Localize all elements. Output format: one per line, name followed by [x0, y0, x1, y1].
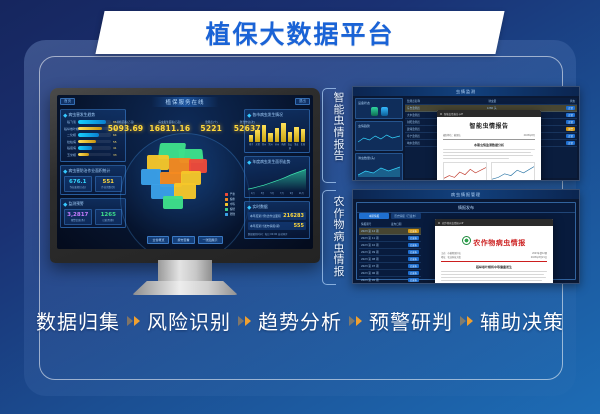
map-region: [147, 155, 169, 170]
panel-realtime-data-header: 实时数据: [248, 204, 306, 210]
flow-step-5: 辅助决策: [480, 306, 564, 335]
map-button-bycity[interactable]: 按市查看: [172, 236, 194, 244]
table-row[interactable]: 2023 第 07 期 已发布: [359, 263, 421, 270]
dashboard-center-column: 种植面积(万亩) 5093.69 病虫发生面积(万亩) 16811.16 监测点…: [129, 109, 241, 245]
bar-track: [78, 140, 111, 143]
kpi-value: 16811.16: [149, 124, 190, 133]
double-chevron-icon: [460, 316, 473, 326]
table-column-header: 诱虫量: [488, 99, 567, 103]
bar-value: 64: [113, 133, 122, 137]
stat-label: 作业面积(万亩): [65, 185, 91, 189]
tab-history-bulletin[interactable]: 历史情报（已发布）: [391, 213, 421, 219]
stat-card: 551 作业次数(次): [95, 176, 123, 192]
stat-card: 676.1 作业面积(万亩): [64, 176, 92, 192]
stat-row: 3,2817 预警信息(条) 1265 已处置(条): [64, 209, 122, 225]
list-item-value: 555: [294, 223, 304, 229]
table-row[interactable]: 2023 第 06 期 已发布: [359, 270, 421, 277]
double-chevron-icon: [349, 316, 362, 326]
status-badge: 正常: [566, 120, 575, 124]
city-bar-axis: 南京 无锡 徐州 常州 苏州 南通 连云港 淮安 盐城: [248, 142, 306, 150]
document-rule: [443, 139, 535, 140]
panel-pest-trend: 病虫害发生趋势 稻飞虱 86 稻纵卷叶螟 72 二化螟 64: [60, 109, 126, 162]
table-cell-name: 2023 第 07 期: [361, 264, 406, 268]
process-flow: 数据归集 风险识别 趋势分析 预警研判 辅助决策: [24, 306, 576, 335]
kpi-value: 52637: [232, 124, 262, 133]
stat-card: 1265 已处置(条): [95, 209, 123, 225]
document-meta-right: 2023年8月: [524, 133, 535, 137]
bar-track: [78, 120, 111, 123]
panel-bottom-title: 病虫情报管理: [451, 192, 481, 198]
table-row[interactable]: 2023 第 08 期 已发布: [359, 256, 421, 263]
list-item-label: 本年度累计防治作业面积(亩): [250, 214, 281, 218]
panel-annual-trend: 年度病虫发生面积走势: [244, 156, 310, 198]
modal-title: 情报发布: [357, 203, 575, 213]
list-item-label: 本年度累计发布情报(期): [250, 224, 280, 228]
monitor-stand-neck: [158, 260, 212, 284]
status-badge: 已发布: [408, 243, 419, 247]
menu-icon[interactable]: [440, 113, 442, 115]
panel-top-title: 虫情监测: [456, 89, 476, 95]
kpi-strip: 种植面积(万亩) 5093.69 病虫发生面积(万亩) 16811.16 监测点…: [108, 121, 263, 133]
document-title: 农作物病虫情报: [473, 238, 526, 248]
table-header-row: 情报期号 发布日期: [359, 221, 421, 228]
list-item-value: 216283: [283, 213, 304, 219]
table-cell-name: 2023 第 10 期: [361, 243, 406, 247]
stat-label: 预警信息(条): [65, 218, 91, 222]
kpi-card: 监测点(个) 5221: [196, 121, 226, 133]
monitor-stand-base: [132, 281, 238, 295]
table-row[interactable]: 2023 第 10 期 已发布: [359, 242, 421, 249]
flow-step-3: 趋势分析: [258, 306, 342, 335]
table-cell-name: 2023 第 08 期: [361, 257, 406, 261]
province-map[interactable]: 严重 偏重 中等 偏轻 轻微: [129, 139, 241, 233]
double-chevron-icon: [238, 316, 251, 326]
bar-track: [78, 153, 111, 156]
page-title: 植保大数据平台: [100, 11, 500, 54]
bar-value: 55: [113, 140, 122, 144]
vlabel-char: 情: [327, 127, 351, 139]
document-red-rule: [441, 261, 547, 262]
mini-card-header: 诱虫数量(头): [358, 156, 400, 160]
mini-card-insect-count: 诱虫数量(头): [355, 153, 403, 181]
flow-step-4: 预警研判: [369, 306, 453, 335]
panel-city-occurrence-header: 各市病虫发生情况: [248, 112, 306, 118]
vlabel-char: 病: [327, 231, 351, 243]
bar-track: [78, 133, 111, 136]
table-cell-name: 2023 第 09 期: [361, 250, 406, 254]
annual-axis: 1月 3月 5月 7月 9月 11月: [248, 191, 306, 195]
document-page: 农作物病虫情报 主办：市植物保护站 2023年第12期 地址：农业科技大楼 20…: [435, 226, 553, 284]
kpi-value: 5093.69: [108, 124, 144, 133]
table-cell-name: 2023 第 12 期: [361, 229, 406, 233]
panel-monitor-warning: 监测预警 3,2817 预警信息(条) 1265 已处置(条): [60, 198, 126, 228]
panel-top-body: 设备状态 虫情趋势 诱虫数量(头): [353, 96, 579, 180]
bar-label: 二化螟: [64, 133, 76, 137]
bar-label: 纹枯病: [64, 140, 76, 144]
status-badge: 已发布: [408, 278, 419, 282]
table-column-header: 状态: [570, 99, 575, 103]
document-subtitle: 稻纵卷叶螟将中等偏重发生: [441, 265, 547, 269]
legend-item: 轻微: [225, 212, 235, 216]
dashboard-exit-button[interactable]: 退出: [295, 98, 310, 105]
document-filename: 农作物病虫情报.pdf: [442, 221, 463, 225]
panel-treatment-area-header: 病虫害防治作业面积统计: [64, 168, 122, 174]
document-meta: 编制单位：植保站 2023年8月: [443, 133, 535, 137]
status-badge: 正常: [566, 113, 575, 117]
document-chart: [443, 162, 487, 181]
document-meta-left2: 地址：农业科技大楼: [441, 255, 461, 259]
dashboard-title: 植保服务在线: [151, 97, 218, 107]
modal-left-pane: 本期情报 历史情报（已发布） 情报期号 发布日期 2023 第 12 期 已发布: [359, 213, 421, 277]
table-column-header: 情报期号: [361, 222, 389, 226]
status-badge: 正常: [566, 106, 575, 110]
device-icon: [371, 107, 378, 116]
legend-item: 偏轻: [225, 207, 235, 211]
mini-card-header: 设备状态: [358, 101, 400, 105]
table-column-header: 监测点名称: [407, 99, 486, 103]
vlabel-char: 智: [327, 92, 351, 104]
table-row[interactable]: 2023 第 11 期 已发布: [359, 235, 421, 242]
document-filename: 智能虫情报告.pdf: [444, 112, 463, 116]
modal-dialog: 情报发布 本期情报 历史情报（已发布） 情报期号 发布日期 2023 第 12 …: [356, 202, 576, 280]
bulletin-table: 情报期号 发布日期 2023 第 12 期 已发布 2023 第 11 期 已发…: [359, 221, 421, 284]
table-column-header: 发布日期: [391, 222, 419, 226]
stat-label: 已处置(条): [96, 218, 122, 222]
mini-card-pest-trend: 虫情趋势: [355, 121, 403, 152]
document-viewer-pest-report[interactable]: 智能虫情报告.pdf 智能虫情报告 编制单位：植保站 2023年8月 本期虫情监…: [437, 110, 541, 181]
panel-treatment-area: 病虫害防治作业面积统计 676.1 作业面积(万亩) 551 作业次数(次): [60, 165, 126, 195]
panel-monitor-warning-header: 监测预警: [64, 201, 122, 207]
document-meta-right2: 2023年8月21日: [531, 255, 547, 259]
panel-top-titlebar: 虫情监测: [353, 87, 579, 96]
double-chevron-icon: [127, 316, 140, 326]
monitor-device: 首页 植保服务在线 退出 病虫害发生趋势 稻飞虱 86 稻纵卷叶螟 72: [50, 88, 320, 263]
dashboard-home-button[interactable]: 首页: [60, 98, 75, 105]
map-button-onemap[interactable]: 一张图展示: [198, 236, 223, 244]
vlabel-char: 告: [327, 150, 351, 162]
flow-step-1: 数据归集: [36, 306, 120, 335]
document-toolbar: 智能虫情报告.pdf: [437, 110, 541, 117]
bar-label: 稻纵卷叶螟: [64, 127, 76, 131]
bar-label: 玉米螟: [64, 153, 76, 157]
bar-value: 33: [113, 153, 122, 157]
document-chart-block: 诱虫量日变化: [443, 162, 487, 181]
stat-row: 676.1 作业面积(万亩) 551 作业次数(次): [64, 176, 122, 192]
table-header-row: 监测点名称 诱虫量 状态: [405, 98, 577, 105]
bar-label: 稻瘟病: [64, 146, 76, 150]
table-row[interactable]: 2023 第 05 期 已发布: [359, 277, 421, 284]
document-header: 农作物病虫情报: [441, 230, 547, 249]
map-region: [141, 169, 161, 185]
document-page: 智能虫情报告 编制单位：植保站 2023年8月 本期虫情监测数据分析: [437, 117, 541, 181]
mini-card-header: 虫情趋势: [358, 124, 400, 128]
bar-row: 二化螟 64: [64, 133, 122, 137]
map-legend: 严重 偏重 中等 偏轻 轻微: [225, 192, 235, 217]
mini-line-chart: [358, 133, 400, 144]
document-toolbar: 农作物病虫情报.pdf: [435, 219, 553, 226]
realtime-footer: 数据更新时间：每日 00:00 自动同步: [248, 232, 306, 236]
document-chart-block: 虫口密度趋势: [491, 162, 535, 181]
document-charts: 诱虫量日变化 虫口密度趋势: [443, 162, 535, 181]
panel-top-sidebar: 设备状态 虫情趋势 诱虫数量(头): [355, 98, 403, 178]
panel-crop-bulletin-screenshot: 病虫情报管理 情报发布 本期情报 历史情报（已发布） 情报期号 发布日期: [352, 189, 580, 284]
map-button-overview[interactable]: 全省概览: [147, 236, 169, 244]
list-item: 本年度累计发布情报(期) 555: [248, 222, 306, 230]
legend-item: 严重: [225, 192, 235, 196]
table-cell-name: 2023 第 06 期: [361, 271, 406, 275]
kpi-card: 病虫发生面积(万亩) 16811.16: [149, 121, 190, 133]
status-badge: 已发布: [408, 236, 419, 240]
status-badge: 预警: [566, 127, 575, 131]
table-cell-name: 2023 第 11 期: [361, 236, 406, 240]
document-viewer-crop-bulletin[interactable]: 农作物病虫情报.pdf 农作物病虫情报 主办：市植物保护站 2023年第12期 …: [435, 219, 553, 284]
status-badge: 正常: [566, 134, 575, 138]
poster-root: 植保大数据平台 首页 植保服务在线 退出 病虫害发生趋势 稻飞虱 86 稻纵卷叶…: [0, 0, 600, 414]
status-badge: 已发布: [408, 250, 419, 254]
table-row[interactable]: 2023 第 09 期 已发布: [359, 249, 421, 256]
legend-item: 中等: [225, 202, 235, 206]
status-badge: 已发布: [408, 257, 419, 261]
kpi-value: 5221: [196, 124, 226, 133]
annual-area-chart: [248, 167, 306, 191]
vlabel-char: 农: [327, 196, 351, 208]
status-badge: 已发布: [408, 229, 419, 233]
status-badge: 已发布: [408, 271, 419, 275]
panel-bottom-titlebar: 病虫情报管理: [353, 190, 579, 199]
dashboard-screen: 首页 植保服务在线 退出 病虫害发生趋势 稻飞虱 86 稻纵卷叶螟 72: [57, 95, 313, 249]
mini-card-device-status: 设备状态: [355, 98, 403, 119]
document-meta-left: 编制单位：植保站: [443, 133, 461, 137]
document-chart: [491, 162, 535, 181]
flow-step-2: 风险识别: [147, 306, 231, 335]
stat-card: 3,2817 预警信息(条): [64, 209, 92, 225]
status-badge: 正常: [566, 141, 575, 145]
bar-row: 纹枯病 55: [64, 140, 122, 144]
legend-item: 偏重: [225, 197, 235, 201]
bar-row: 玉米螟 33: [64, 153, 122, 157]
panel-bottom-body: 情报发布 本期情报 历史情报（已发布） 情报期号 发布日期 2023 第 12 …: [353, 199, 579, 283]
stat-label: 作业次数(次): [96, 185, 122, 189]
document-title: 智能虫情报告: [443, 121, 535, 130]
panel-pest-report-screenshot: 虫情监测 设备状态 虫情趋势 诱虫数量(头): [352, 86, 580, 181]
panel-pest-trend-header: 病虫害发生趋势: [64, 112, 122, 118]
bar-track: [78, 127, 111, 130]
panel-annual-trend-header: 年度病虫发生面积走势: [248, 159, 306, 165]
vlabel-char: 报: [327, 266, 351, 278]
green-seal-icon: [462, 236, 471, 245]
tab-current-bulletin[interactable]: 本期情报: [359, 213, 389, 219]
list-item: 本年度累计防治作业面积(亩) 216283: [248, 212, 306, 220]
bar-track: [78, 146, 111, 149]
bar-row: 稻瘟病 41: [64, 146, 122, 150]
kpi-card: 种植面积(万亩) 5093.69: [108, 121, 144, 133]
status-badge: 已发布: [408, 264, 419, 268]
area-chart-svg: [248, 167, 306, 191]
bar-value: 41: [113, 146, 122, 150]
bar-label: 稻飞虱: [64, 120, 76, 124]
vertical-label-crop-bulletin: 农作物病虫情报: [327, 196, 351, 278]
panel-realtime-data: 实时数据 本年度累计防治作业面积(亩) 216283 本年度累计发布情报(期) …: [244, 201, 310, 239]
map-button-row: 全省概览 按市查看 一张图展示: [133, 236, 237, 244]
document-subtitle: 本期虫情监测数据分析: [443, 143, 535, 147]
table-cell-name: 2023 第 05 期: [361, 278, 406, 282]
map-region: [163, 196, 183, 209]
mini-area-chart: [358, 165, 400, 177]
kpi-card: 防治作业(次) 52637: [232, 121, 262, 133]
menu-icon[interactable]: [438, 222, 440, 224]
table-row[interactable]: 2023 第 12 期 已发布: [359, 228, 421, 235]
vertical-label-pest-report: 智能虫情报告: [327, 92, 351, 162]
device-icon: [381, 107, 388, 116]
document-meta2: 地址：农业科技大楼 2023年8月21日: [441, 255, 547, 259]
